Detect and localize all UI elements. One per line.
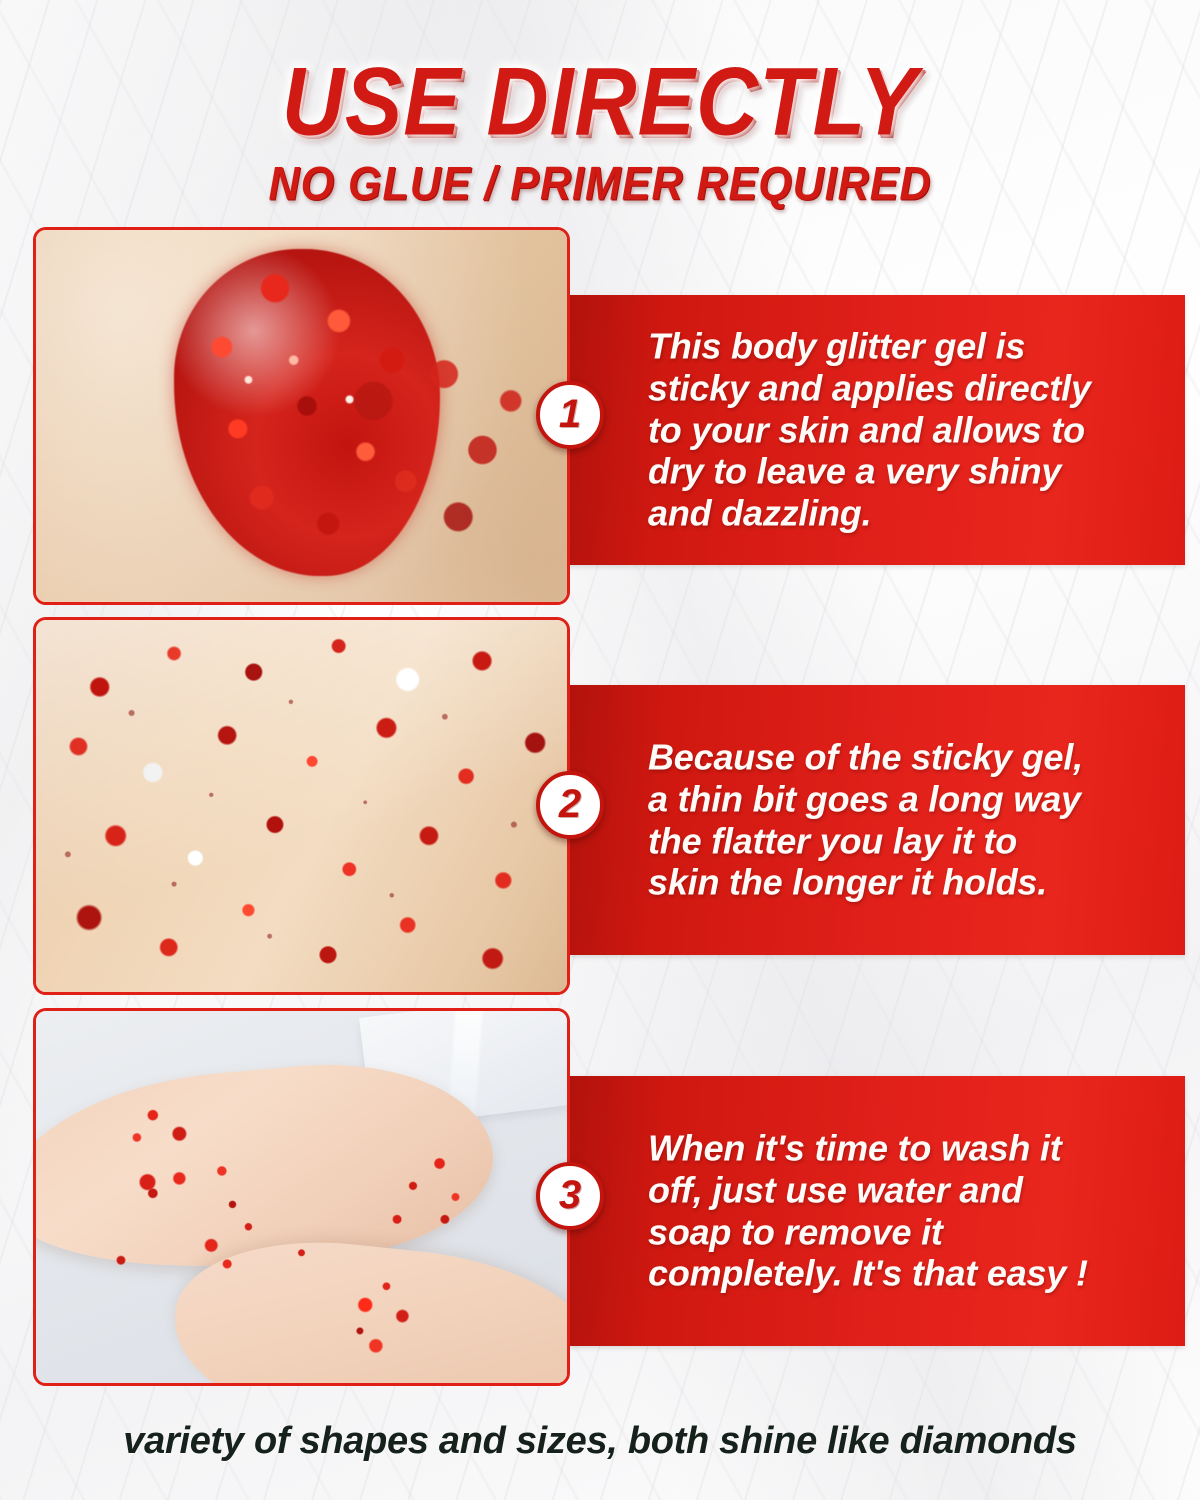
step-number-3: 3 — [559, 1175, 581, 1215]
step-text-panel-1: This body glitter gel is sticky and appl… — [568, 295, 1185, 565]
header: USE DIRECTLY NO GLUE / PRIMER REQUIRED — [0, 0, 1200, 206]
footer: variety of shapes and sizes, both shine … — [0, 1420, 1200, 1463]
step-number-2: 2 — [559, 784, 581, 824]
step-row-2: Because of the sticky gel, a thin bit go… — [0, 617, 1200, 995]
glitter-dust — [36, 620, 567, 992]
page-title: USE DIRECTLY — [0, 0, 1200, 150]
footer-caption: variety of shapes and sizes, both shine … — [0, 1420, 1200, 1463]
step-text-panel-2: Because of the sticky gel, a thin bit go… — [568, 685, 1185, 955]
step-number-badge-2: 2 — [536, 771, 604, 839]
step-row-1: This body glitter gel is sticky and appl… — [0, 227, 1200, 605]
page-subtitle: NO GLUE / PRIMER REQUIRED — [0, 161, 1200, 208]
step-photo-1 — [33, 227, 570, 605]
glitter-spray — [333, 334, 535, 557]
glitter-spread-photo — [36, 620, 567, 992]
glitter-dots — [36, 1011, 567, 1383]
step-description-3: When it's time to wash it off, just use … — [648, 1128, 1169, 1295]
hand-washing-photo — [36, 1011, 567, 1383]
step-description-1: This body glitter gel is sticky and appl… — [648, 326, 1169, 535]
step-number-badge-3: 3 — [536, 1162, 604, 1230]
step-row-3: When it's time to wash it off, just use … — [0, 1008, 1200, 1386]
step-photo-3 — [33, 1008, 570, 1386]
step-photo-2 — [33, 617, 570, 995]
step-number-badge-1: 1 — [536, 381, 604, 449]
step-text-panel-3: When it's time to wash it off, just use … — [568, 1076, 1185, 1346]
step-description-2: Because of the sticky gel, a thin bit go… — [648, 737, 1169, 904]
glitter-patch-photo — [36, 230, 567, 602]
infographic-page: USE DIRECTLY NO GLUE / PRIMER REQUIRED T… — [0, 0, 1200, 1500]
step-number-1: 1 — [559, 394, 581, 434]
